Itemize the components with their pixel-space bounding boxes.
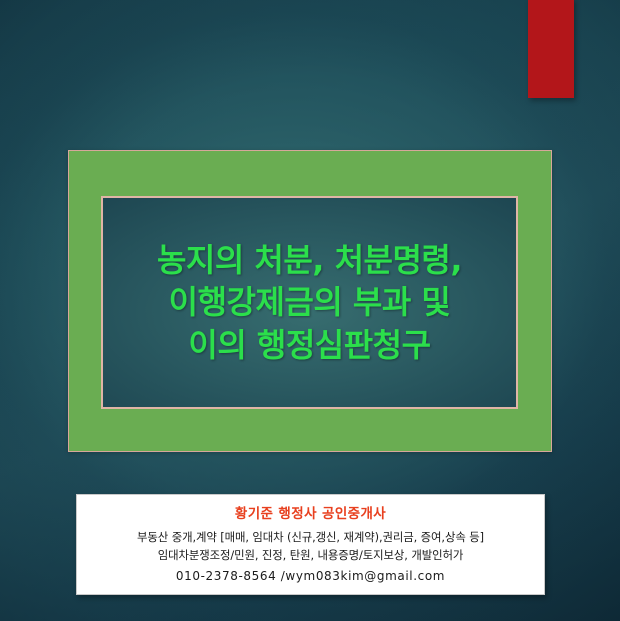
contact-card: 황기준 행정사 공인중개사 부동산 중개,계약 [매매, 임대차 (신규,갱신,… <box>76 494 545 595</box>
presentation-slide: 농지의 처분, 처분명령, 이행강제금의 부과 및 이의 행정심판청구 황기준 … <box>0 0 620 621</box>
title-inner-panel: 농지의 처분, 처분명령, 이행강제금의 부과 및 이의 행정심판청구 <box>101 196 518 409</box>
contact-services-line-1: 부동산 중개,계약 [매매, 임대차 (신규,갱신, 재계약),권리금, 증여,… <box>77 528 544 546</box>
contact-phone-email: 010-2378-8564 /wym083kim@gmail.com <box>77 566 544 586</box>
contact-services-line-2: 임대차분쟁조정/민원, 진정, 탄원, 내용증명/토지보상, 개발인허가 <box>77 546 544 564</box>
slide-title: 농지의 처분, 처분명령, 이행강제금의 부과 및 이의 행정심판청구 <box>151 239 468 366</box>
contact-name: 황기준 행정사 공인중개사 <box>77 504 544 525</box>
red-accent-bar <box>528 0 574 98</box>
title-frame: 농지의 처분, 처분명령, 이행강제금의 부과 및 이의 행정심판청구 <box>68 150 552 452</box>
